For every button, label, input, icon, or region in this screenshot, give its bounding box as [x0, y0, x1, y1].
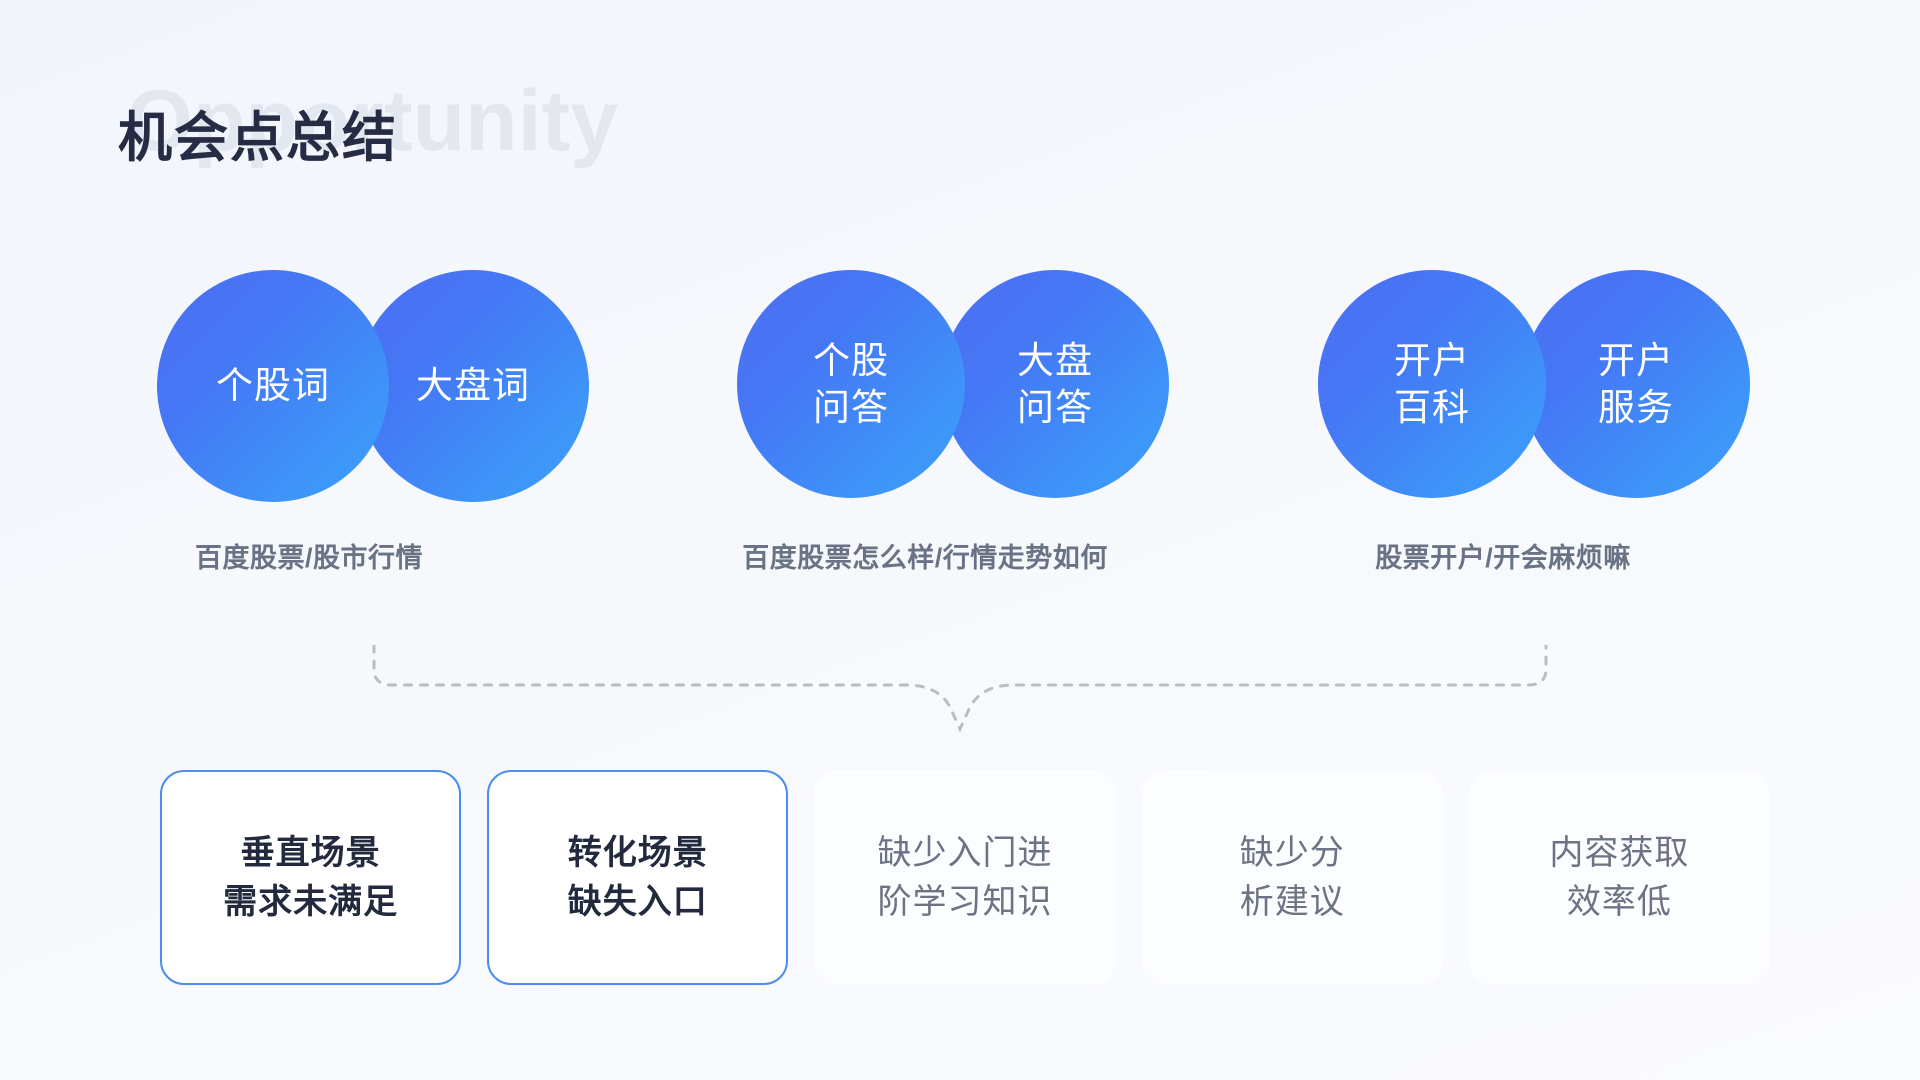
- scenario-group-stock-qa: 个股问答 大盘问答 百度股票怎么样/行情走势如何: [737, 270, 1197, 600]
- circle-account-service[interactable]: 开户服务: [1522, 270, 1750, 498]
- circle-individual-stock-keyword[interactable]: 个股词: [157, 270, 389, 502]
- circle-market-index-keyword[interactable]: 大盘词: [357, 270, 589, 502]
- brace-path: [374, 645, 1546, 729]
- card-label: 转化场景缺失入口: [558, 829, 718, 926]
- card-lack-analysis-advice[interactable]: 缺少分析建议: [1142, 770, 1443, 985]
- circle-individual-stock-qa[interactable]: 个股问答: [737, 270, 965, 498]
- card-low-content-efficiency[interactable]: 内容获取效率低: [1469, 770, 1770, 985]
- circle-market-index-qa[interactable]: 大盘问答: [941, 270, 1169, 498]
- card-conversion-scenario[interactable]: 转化场景缺失入口: [487, 770, 788, 985]
- card-label: 内容获取效率低: [1539, 829, 1699, 926]
- group-caption: 百度股票/股市行情: [79, 536, 539, 575]
- card-label: 缺少入门进阶学习知识: [868, 829, 1063, 926]
- circle-account-wiki[interactable]: 开户百科: [1318, 270, 1546, 498]
- circle-pair: 开户百科 开户服务: [1318, 270, 1778, 502]
- circle-pair: 个股问答 大盘问答: [737, 270, 1197, 502]
- brace-svg: [370, 645, 1550, 765]
- circle-label: 开户百科: [1394, 337, 1470, 432]
- circle-label: 个股问答: [813, 337, 889, 432]
- circle-label: 个股词: [216, 362, 330, 409]
- scenario-groups: 个股词 大盘词 百度股票/股市行情 个股问答 大盘问答 百度股票怎么样/行情走势…: [0, 270, 1920, 600]
- card-label: 缺少分析建议: [1230, 829, 1355, 926]
- circle-pair: 个股词 大盘词: [157, 270, 617, 502]
- opportunity-cards: 垂直场景需求未满足 转化场景缺失入口 缺少入门进阶学习知识 缺少分析建议 内容获…: [160, 770, 1770, 985]
- scenario-group-stock-keywords: 个股词 大盘词 百度股票/股市行情: [157, 270, 617, 600]
- slide-canvas: Opportunity 机会点总结 个股词 大盘词 百度股票/股市行情 个股问答: [0, 0, 1920, 1080]
- group-caption: 百度股票怎么样/行情走势如何: [675, 536, 1175, 575]
- scenario-group-account-opening: 开户百科 开户服务 股票开户/开会麻烦嘛: [1318, 270, 1778, 600]
- group-caption: 股票开户/开会麻烦嘛: [1268, 536, 1738, 575]
- circle-label: 大盘问答: [1017, 337, 1093, 432]
- card-label: 垂直场景需求未满足: [213, 829, 408, 926]
- card-lack-beginner-knowledge[interactable]: 缺少入门进阶学习知识: [814, 770, 1115, 985]
- circle-label: 开户服务: [1598, 337, 1674, 432]
- page-title: 机会点总结: [118, 107, 398, 169]
- dashed-brace-connector: [370, 645, 1550, 765]
- circle-label: 大盘词: [416, 362, 530, 409]
- card-vertical-scenario[interactable]: 垂直场景需求未满足: [160, 770, 461, 985]
